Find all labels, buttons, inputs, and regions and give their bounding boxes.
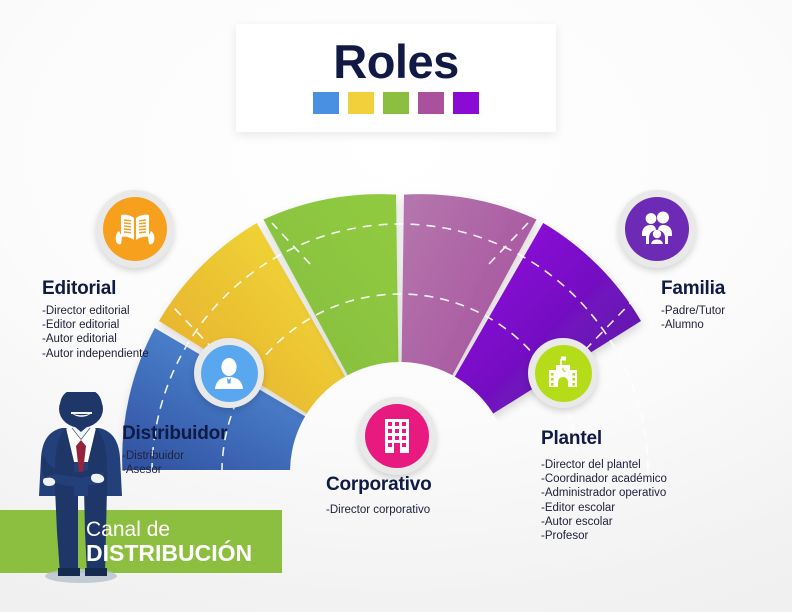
color-swatch-row (236, 92, 556, 114)
role-item: -Autor independiente (42, 347, 149, 361)
page-title: Roles (236, 34, 556, 89)
title-card: Roles (236, 24, 556, 132)
role-title-plantel: Plantel (541, 428, 667, 450)
role-item: -Alumno (661, 318, 725, 332)
role-title-corporativo: Corporativo (326, 474, 431, 496)
role-item: -Coordinador académico (541, 472, 667, 486)
swatch-magenta (418, 92, 444, 114)
role-label-corporativo: Corporativo -Director corporativo (326, 474, 431, 517)
badge-distribuidor-inner (201, 345, 258, 402)
banner-line-2: DISTRIBUCIÓN (86, 541, 286, 566)
role-item: -Padre/Tutor (661, 304, 725, 318)
swatch-green (383, 92, 409, 114)
role-item: -Director del plantel (541, 458, 667, 472)
user-person-icon (212, 356, 246, 390)
family-icon (637, 211, 677, 247)
swatch-violet (453, 92, 479, 114)
school-building-icon (545, 356, 581, 390)
office-building-icon (380, 417, 414, 455)
badge-familia-inner (625, 197, 689, 261)
role-label-familia: Familia -Padre/Tutor -Alumno (661, 278, 725, 332)
role-title-familia: Familia (661, 278, 725, 300)
role-item: -Administrador operativo (541, 486, 667, 500)
badge-plantel-inner (535, 345, 592, 402)
role-item: -Profesor (541, 529, 667, 543)
badge-distribuidor[interactable] (194, 338, 264, 408)
infographic-canvas: Roles (0, 0, 792, 612)
role-title-editorial: Editorial (42, 278, 149, 300)
badge-plantel[interactable] (528, 338, 598, 408)
swatch-yellow (348, 92, 374, 114)
badge-familia[interactable] (618, 190, 696, 268)
open-book-icon (115, 211, 155, 247)
role-item: -Editor editorial (42, 318, 149, 332)
role-item: -Director corporativo (326, 503, 431, 517)
role-item: -Editor escolar (541, 501, 667, 515)
badge-editorial-inner (103, 197, 167, 261)
distribution-banner-text: Canal de DISTRIBUCIÓN (86, 510, 286, 573)
banner-line-1: Canal de (86, 518, 286, 541)
role-label-editorial: Editorial -Director editorial -Editor ed… (42, 278, 149, 361)
role-label-plantel: Plantel -Director del plantel -Coordinad… (541, 428, 667, 543)
role-item: -Autor editorial (42, 332, 149, 346)
role-item: -Director editorial (42, 304, 149, 318)
badge-corporativo[interactable] (358, 397, 436, 475)
role-item: -Autor escolar (541, 515, 667, 529)
badge-editorial[interactable] (96, 190, 174, 268)
swatch-blue (313, 92, 339, 114)
badge-corporativo-inner (365, 404, 429, 468)
